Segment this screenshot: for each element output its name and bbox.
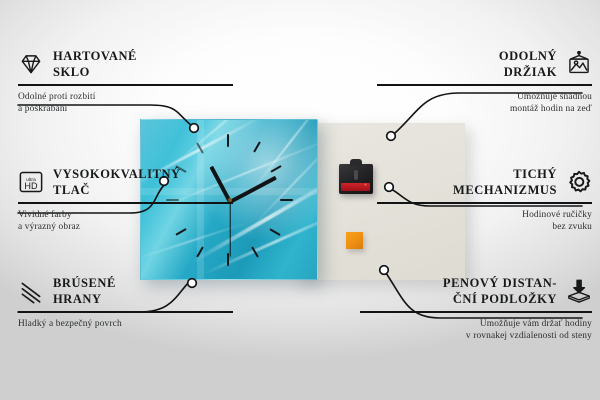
feature-divider — [360, 311, 592, 313]
feature-title-line1: BRÚSENÉ — [53, 275, 116, 291]
feature-subtitle-line1: Umožňuje snadnou — [377, 91, 592, 103]
infographic-stage: + — [0, 0, 600, 400]
feature-subtitle-line2: montáž hodin na zeď — [377, 103, 592, 115]
foam-distance-pad — [346, 232, 363, 249]
feature-tempered-glass: HARTOVANÉ SKLO Odolné proti rozbití a po… — [18, 48, 233, 115]
feature-title-line2: DRŽIAK — [499, 64, 557, 80]
feature-subtitle-line1: Hladký a bezpečný povrch — [18, 318, 233, 330]
feature-header: TICHÝ MECHANIZMUS — [377, 166, 592, 198]
feature-title-line2: MECHANIZMUS — [453, 182, 557, 198]
feature-title-line2: ČNÍ PODLOŽKY — [443, 291, 557, 307]
mechanism-shaft — [354, 170, 358, 180]
feature-title-line1: HARTOVANÉ — [53, 48, 137, 64]
feature-divider — [377, 84, 592, 86]
feature-subtitle-line2: v rovnakej vzdialenosti od steny — [360, 330, 592, 342]
feature-header: HARTOVANÉ SKLO — [18, 48, 233, 80]
feature-hq-print: ultra HD VYSOKOKVALITNÝ TLAČ Vividné far… — [18, 166, 233, 233]
foam-pad-arrow-icon — [566, 278, 592, 304]
feature-subtitle-line2: a výrazný obraz — [18, 221, 233, 233]
feature-title-line1: TICHÝ — [453, 166, 557, 182]
feature-title-line2: HRANY — [53, 291, 116, 307]
feature-durable-holder: ODOLNÝ DRŽIAK Umožňuje snadnou montáž ho… — [377, 48, 592, 115]
clock-mechanism: + — [339, 164, 373, 194]
feature-header: ultra HD VYSOKOKVALITNÝ TLAČ — [18, 166, 233, 198]
feature-title-line2: SKLO — [53, 64, 137, 80]
feature-header: PENOVÝ DISTAN- ČNÍ PODLOŽKY — [360, 275, 592, 307]
feature-divider — [18, 84, 233, 86]
feature-subtitle-line1: Odolné proti rozbití — [18, 91, 233, 103]
battery: + — [341, 183, 370, 191]
mechanism-hanger-tab — [350, 159, 362, 166]
feature-divider — [18, 311, 233, 313]
gear-icon — [566, 169, 592, 195]
picture-hanger-icon — [566, 51, 592, 77]
feature-divider — [18, 202, 233, 204]
polished-edges-icon — [18, 278, 44, 304]
feature-divider — [377, 202, 592, 204]
feature-subtitle-line1: Vividné farby — [18, 209, 233, 221]
feature-subtitle-line1: Hodinové ručičky — [377, 209, 592, 221]
feature-subtitle-line1: Umožňuje vám držať hodiny — [360, 318, 592, 330]
diamond-icon — [18, 51, 44, 77]
feature-title-line1: PENOVÝ DISTAN- — [443, 275, 557, 291]
feature-foam-pads: PENOVÝ DISTAN- ČNÍ PODLOŽKY Umožňuje vám… — [360, 275, 592, 342]
clock-tick — [280, 199, 293, 201]
feature-subtitle-line2: a poškrábání — [18, 103, 233, 115]
feature-polished-edges: BRÚSENÉ HRANY Hladký a bezpečný povrch — [18, 275, 233, 330]
feature-header: BRÚSENÉ HRANY — [18, 275, 233, 307]
ultra-hd-icon: ultra HD — [18, 169, 44, 195]
feature-title-line2: TLAČ — [53, 182, 181, 198]
feature-title-line1: VYSOKOKVALITNÝ — [53, 166, 181, 182]
feature-title-line1: ODOLNÝ — [499, 48, 557, 64]
svg-text:HD: HD — [24, 181, 38, 191]
clock-tick — [227, 134, 229, 147]
feature-subtitle-line2: bez zvuku — [377, 221, 592, 233]
battery-plus-marker: + — [363, 184, 368, 189]
feature-silent-mechanism: TICHÝ MECHANIZMUS Hodinové ručičky bez z… — [377, 166, 592, 233]
feature-header: ODOLNÝ DRŽIAK — [377, 48, 592, 80]
